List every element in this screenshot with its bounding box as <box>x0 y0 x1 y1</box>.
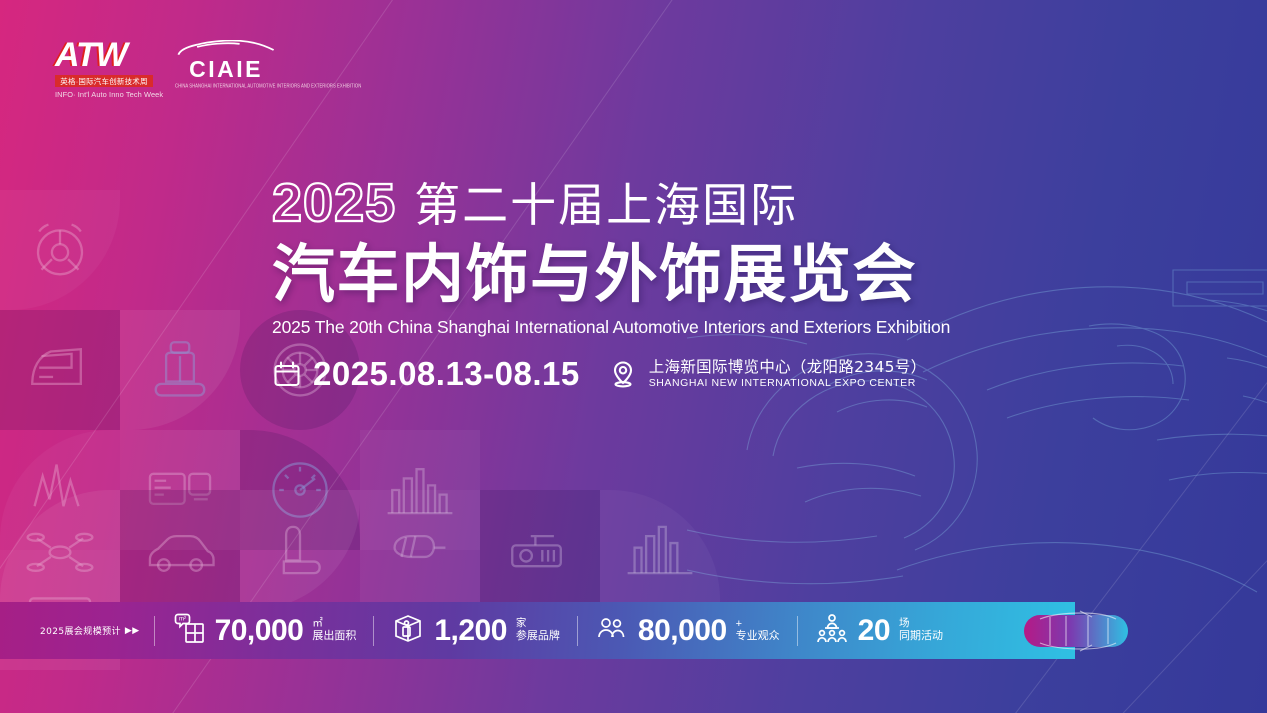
ciaie-logo[interactable]: CIAIE CHINA SHANGHAI INTERNATIONAL AUTOM… <box>175 38 277 88</box>
decor-tile-speedometer <box>240 430 360 550</box>
presenter-icon <box>815 611 849 650</box>
waveform-icon <box>23 453 97 527</box>
stats-lead-arrow-icon: ▶▶ <box>125 626 140 636</box>
car-seat-icon <box>143 333 217 407</box>
car-side-icon <box>143 513 217 587</box>
hero-copy: 2025 第二十届上海国际 汽车内饰与外饰展览会 2025 The 20th C… <box>272 176 950 393</box>
stat-value-visitors: 80,000 <box>638 616 727 646</box>
stat-item-events: 20 场 同期活动 <box>798 611 960 650</box>
decor-tile-car-side <box>120 490 240 610</box>
stat-value-events: 20 <box>858 616 890 646</box>
stats-bar-car <box>1020 597 1140 665</box>
skyline-icon <box>623 513 697 587</box>
drone-icon <box>23 513 97 587</box>
decor-tile-car-seat <box>120 310 240 430</box>
event-date: 2025.08.13-08.15 <box>272 355 580 393</box>
atw-logo-cn-label: 英格·国际汽车创新技术周 <box>55 75 153 87</box>
speedometer-icon <box>263 453 337 527</box>
decor-tile-dashcam <box>480 490 600 610</box>
hero-meta: 2025.08.13-08.15 上海新国际博览中心（龙阳路2345号） SHA… <box>272 355 950 393</box>
dashcam-icon <box>503 513 577 587</box>
hero-line-one: 2025 第二十届上海国际 <box>272 176 950 230</box>
atw-logo[interactable]: ATW 英格·国际汽车创新技术周 INFO· Int'l Auto Inno T… <box>55 38 153 99</box>
stat-label-area: 展出面积 <box>312 630 356 642</box>
decor-tile-mirror <box>360 490 480 610</box>
ciaie-logo-word: CIAIE <box>175 58 277 81</box>
decor-tile-drone <box>0 490 120 610</box>
decor-tile-dashboard <box>120 430 240 550</box>
hero-subtitle-en: 2025 The 20th China Shanghai Internation… <box>272 317 950 338</box>
decor-tile-steering-wheel <box>0 190 120 310</box>
event-venue: 上海新国际博览中心（龙阳路2345号） SHANGHAI NEW INTERNA… <box>608 358 927 391</box>
top-view-car-icon <box>1020 597 1140 665</box>
atw-logo-icon: ATW <box>55 38 153 72</box>
hero-year: 2025 <box>272 176 396 230</box>
seat-side-icon <box>263 513 337 587</box>
logo-group: ATW 英格·国际汽车创新技术周 INFO· Int'l Auto Inno T… <box>55 38 277 99</box>
svg-text:m²: m² <box>179 617 186 623</box>
decor-tile-seat-side <box>240 490 360 610</box>
page-title: 汽车内饰与外饰展览会 <box>272 242 950 308</box>
dashboard-icon <box>143 453 217 527</box>
stats-lead-label: 2025展会规模预计 <box>40 624 121 637</box>
event-date-text: 2025.08.13-08.15 <box>313 355 580 393</box>
stat-label-brands: 参展品牌 <box>516 630 560 642</box>
mirror-icon <box>383 513 457 587</box>
stats-bar: 2025展会规模预计 ▶▶ m² 70,000 ㎡ 展出面积 <box>0 602 1075 659</box>
stat-value-brands: 1,200 <box>434 616 507 646</box>
steering-wheel-icon <box>23 213 97 287</box>
venue-name-cn: 上海新国际博览中心（龙阳路2345号） <box>649 358 927 377</box>
visitors-icon <box>595 611 629 650</box>
location-pin-icon <box>608 359 638 389</box>
hero-edition-cn: 第二十届上海国际 <box>414 182 798 228</box>
promo-banner: ATW 英格·国际汽车创新技术周 INFO· Int'l Auto Inno T… <box>0 0 1267 713</box>
decor-tile-waveform <box>0 430 120 550</box>
stat-label-events: 同期活动 <box>899 630 943 642</box>
ciaie-logo-micro-label: CHINA SHANGHAI INTERNATIONAL AUTOMOTIVE … <box>175 82 277 88</box>
atw-logo-en-label: INFO· Int'l Auto Inno Tech Week <box>55 90 153 99</box>
car-door-icon <box>23 333 97 407</box>
stat-item-brands: 1,200 家 参展品牌 <box>374 611 577 650</box>
decor-tile-skyline-2 <box>600 490 720 610</box>
stats-lead: 2025展会规模预计 ▶▶ <box>0 624 154 637</box>
skyline-icon <box>383 453 457 527</box>
decor-tile-skyline <box>360 430 480 550</box>
calendar-icon <box>272 359 302 389</box>
stat-value-area: 70,000 <box>215 616 304 646</box>
venue-name-en: SHANGHAI NEW INTERNATIONAL EXPO CENTER <box>649 377 927 391</box>
floorplan-icon: m² <box>172 611 206 650</box>
booth-icon <box>391 611 425 650</box>
car-silhouette-icon <box>175 40 277 57</box>
decor-tile-car-door <box>0 310 120 430</box>
stat-item-area: m² 70,000 ㎡ 展出面积 <box>155 611 374 650</box>
stat-item-visitors: 80,000 + 专业观众 <box>578 611 797 650</box>
stat-label-visitors: 专业观众 <box>736 630 780 642</box>
